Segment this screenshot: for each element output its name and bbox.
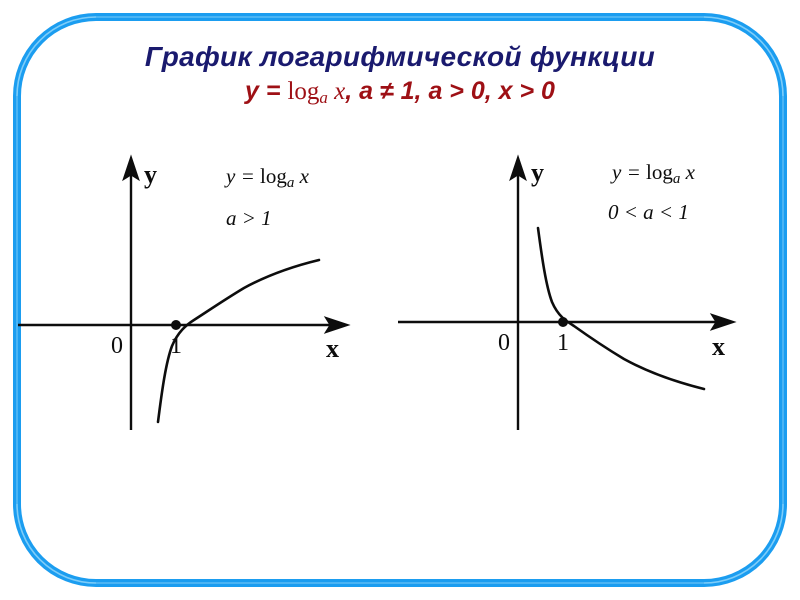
y-axis-label: y — [531, 160, 544, 186]
graph-panel-a-between-0-1: y x 0 1 y = loga x 0 < a < 1 — [390, 140, 770, 440]
page-title: График логарифмической функции — [0, 42, 800, 73]
origin-label: 0 — [498, 331, 510, 355]
formula-log-base: a — [319, 88, 328, 107]
x-axis-label: x — [712, 334, 725, 360]
tick-label-1: 1 — [557, 331, 569, 355]
slide-canvas: График логарифмической функции y = loga … — [0, 0, 800, 600]
equation-argument: x — [294, 164, 309, 188]
graph-right-drawing — [390, 140, 770, 440]
origin-label: 0 — [111, 334, 123, 358]
formula-log: loga — [287, 78, 327, 105]
marked-point-1-0 — [171, 320, 181, 330]
x-axis-label: x — [326, 336, 339, 362]
equation-log: loga — [260, 164, 294, 188]
graph-panel-a-greater-1: y x 0 1 y = loga x a > 1 — [10, 140, 390, 440]
title-block: График логарифмической функции y = loga … — [0, 42, 800, 107]
graph-condition-annotation: 0 < a < 1 — [608, 202, 689, 223]
log-curve-decreasing — [538, 228, 704, 389]
equation-argument: x — [680, 160, 695, 184]
graph-left-drawing — [10, 140, 390, 440]
y-axis-label: y — [144, 162, 157, 188]
graph-equation-annotation: y = loga x — [612, 162, 695, 187]
tick-label-1: 1 — [170, 334, 182, 358]
formula-argument: x — [328, 78, 345, 105]
marked-point-1-0 — [558, 317, 568, 327]
equation-prefix: y = — [226, 164, 260, 188]
graph-condition-annotation: a > 1 — [226, 208, 272, 229]
formula-conditions: , a ≠ 1, a > 0, x > 0 — [345, 77, 555, 105]
title-formula: y = loga x, a ≠ 1, a > 0, x > 0 — [0, 78, 800, 108]
equation-prefix: y = — [612, 160, 646, 184]
graph-equation-annotation: y = loga x — [226, 166, 309, 191]
equation-log: loga — [646, 160, 680, 184]
formula-prefix: y = — [245, 77, 287, 105]
log-curve-increasing — [158, 260, 319, 422]
